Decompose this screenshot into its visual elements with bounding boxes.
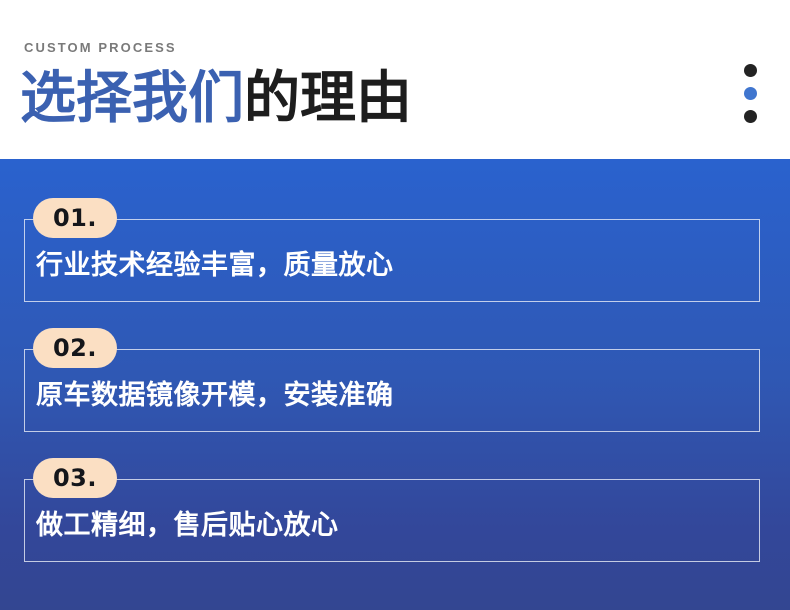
feature-text: 做工精细，售后贴心放心 xyxy=(36,506,339,546)
page-title-accent: 选择我们 xyxy=(20,66,244,131)
dot-decoration xyxy=(744,64,760,124)
page-title: 选择我们的理由 xyxy=(20,66,412,132)
dot-middle-icon xyxy=(744,87,757,100)
page-header: CUSTOM PROCESS 选择我们的理由 xyxy=(0,0,790,159)
feature-number-badge: 01. xyxy=(33,198,117,238)
page-title-plain: 的理由 xyxy=(244,66,412,131)
header-eyebrow: CUSTOM PROCESS xyxy=(24,41,177,54)
promo-page: CUSTOM PROCESS 选择我们的理由 01. 行业技术经验丰富，质量放心… xyxy=(0,0,790,610)
feature-text: 行业技术经验丰富，质量放心 xyxy=(36,246,394,286)
feature-number-badge: 02. xyxy=(33,328,117,368)
feature-number-badge: 03. xyxy=(33,458,117,498)
feature-panel: 01. 行业技术经验丰富，质量放心 02. 原车数据镜像开模，安装准确 03. … xyxy=(0,159,790,610)
dot-bottom-icon xyxy=(744,110,757,123)
dot-top-icon xyxy=(744,64,757,77)
feature-text: 原车数据镜像开模，安装准确 xyxy=(36,376,394,416)
